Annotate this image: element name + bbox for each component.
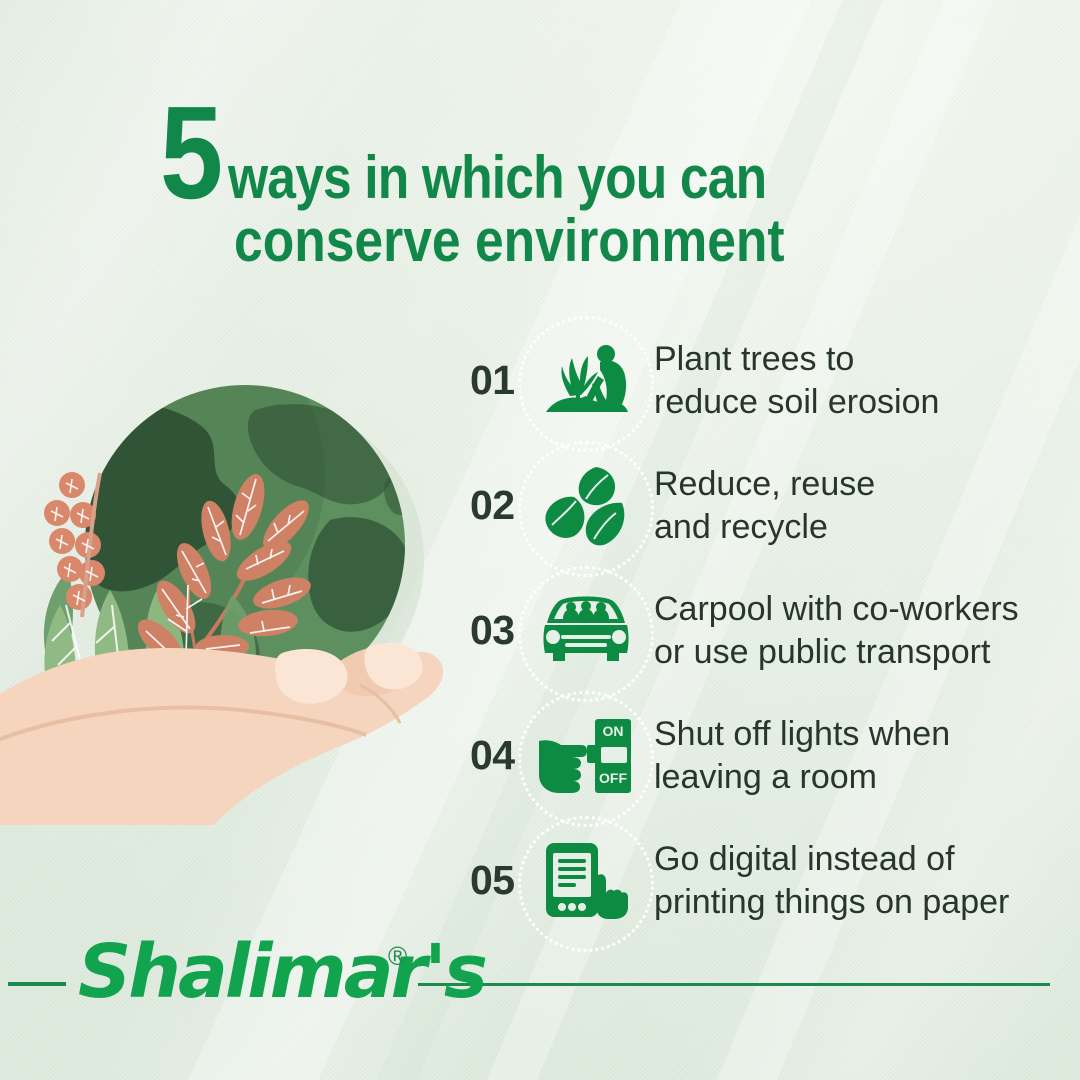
item-text: Shut off lights when leaving a room — [640, 713, 950, 797]
item-text: Go digital instead of printing things on… — [640, 838, 1009, 922]
dotted-circle — [518, 566, 654, 702]
item-text-line-1: Go digital instead of — [654, 838, 1009, 880]
item-text-line-1: Reduce, reuse — [654, 463, 875, 505]
footer: Shalimar's ® — [0, 935, 1080, 1045]
tips-list: 01 Plant trees to — [470, 318, 1050, 943]
title-line-2: conserve environment — [234, 207, 858, 274]
list-item[interactable]: 04 ON OFF S — [470, 693, 1050, 818]
list-item[interactable]: 05 — [470, 818, 1050, 943]
item-icon-cell — [532, 331, 640, 431]
hand — [0, 643, 443, 825]
item-text-line-1: Carpool with co-workers — [654, 588, 1019, 630]
item-text-line-2: printing things on paper — [654, 881, 1009, 923]
item-text-line-1: Plant trees to — [654, 338, 939, 380]
dotted-circle — [518, 691, 654, 827]
dotted-circle — [518, 441, 654, 577]
footer-rule-right — [418, 983, 1050, 986]
list-item[interactable]: 03 — [470, 568, 1050, 693]
item-text-line-2: and recycle — [654, 506, 875, 548]
item-icon-cell — [532, 831, 640, 931]
dotted-circle — [518, 316, 654, 452]
item-text: Reduce, reuse and recycle — [640, 463, 875, 547]
page-title: 5 ways in which you can conserve environ… — [160, 92, 960, 275]
footer-rule-left — [8, 982, 66, 986]
item-icon-cell: ON OFF — [532, 706, 640, 806]
infographic-canvas: 5 ways in which you can conserve environ… — [0, 0, 1080, 1080]
title-line-1: ways in which you can — [228, 144, 766, 211]
item-text-line-2: reduce soil erosion — [654, 381, 939, 423]
item-text-line-2: leaving a room — [654, 756, 950, 798]
hand-holding-globe-illustration — [0, 355, 470, 825]
list-item[interactable]: 02 Reduce, reuse — [470, 443, 1050, 568]
registered-trademark-icon: ® — [388, 941, 407, 972]
item-icon-cell — [532, 456, 640, 556]
item-icon-cell — [532, 581, 640, 681]
brand-logo[interactable]: Shalimar's — [78, 929, 485, 1015]
item-text-line-1: Shut off lights when — [654, 713, 950, 755]
item-text: Plant trees to reduce soil erosion — [640, 338, 939, 422]
dotted-circle — [518, 816, 654, 952]
list-item[interactable]: 01 Plant trees to — [470, 318, 1050, 443]
item-text: Carpool with co-workers or use public tr… — [640, 588, 1019, 672]
item-text-line-2: or use public transport — [654, 631, 1019, 673]
title-number: 5 — [160, 92, 222, 213]
